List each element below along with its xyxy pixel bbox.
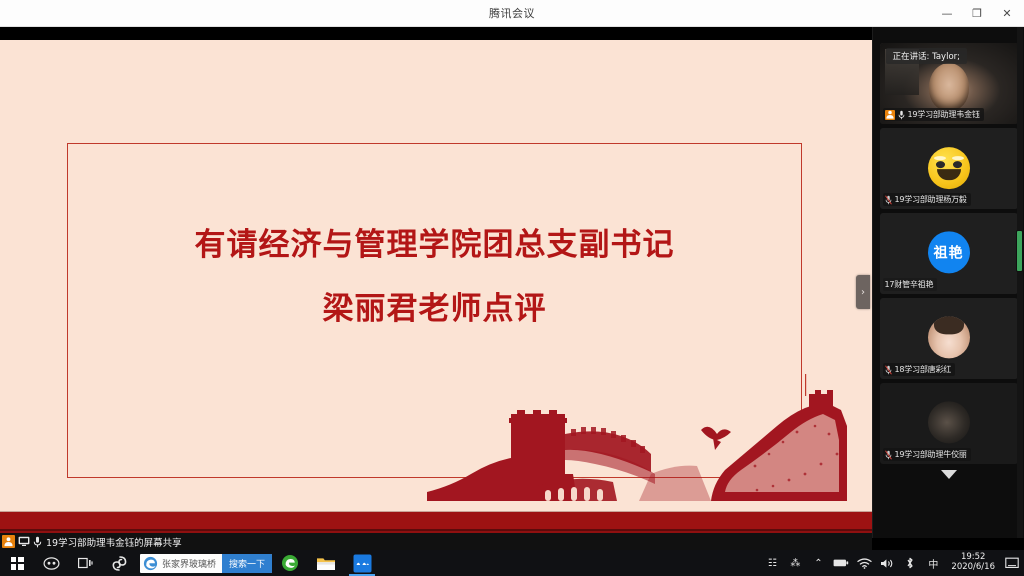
- participant-label: 18学习部唐彩红: [883, 363, 956, 376]
- screen-share-status-bar: 19学习部助理韦金钰的屏幕共享: [0, 533, 872, 550]
- monitor-share-icon: [18, 536, 30, 547]
- participant-label: 19学习部助理牛佼丽: [883, 448, 971, 461]
- sogou-ime-button[interactable]: [102, 550, 136, 576]
- volume-icon[interactable]: [876, 550, 898, 576]
- close-button[interactable]: ✕: [992, 1, 1022, 26]
- initials-avatar: 祖艳: [928, 231, 970, 273]
- collapse-panel-handle[interactable]: ›: [856, 275, 870, 309]
- shared-screen-stage: 有请经济与管理学院团总支副书记 梁丽君老师点评: [0, 27, 872, 538]
- screenshot-tool-icon[interactable]: ☷: [761, 550, 783, 576]
- battery-icon[interactable]: [830, 550, 852, 576]
- edge-search-box[interactable]: 张家界玻璃桥 搜索一下: [140, 554, 272, 573]
- participant-name: 19学习部助理杨万毅: [895, 194, 967, 205]
- cortana-search-icon: [43, 557, 60, 570]
- bluetooth-icon[interactable]: [899, 550, 921, 576]
- panel-scrollbar-track[interactable]: [1017, 27, 1023, 538]
- task-view-icon: [78, 557, 93, 570]
- participant-name: 19学习部助理牛佼丽: [895, 449, 967, 460]
- emoji-eye-right: [953, 161, 962, 168]
- clock-date: 2020/6/16: [951, 563, 995, 573]
- participant-label: 19学习部助理杨万毅: [883, 193, 971, 206]
- browser-360-icon[interactable]: [272, 550, 308, 576]
- participant-label: 19学习部助理韦金钰: [883, 108, 984, 121]
- emoji-mouth: [937, 169, 961, 180]
- slide-heading-line-1: 有请经济与管理学院团总支副书记: [67, 225, 802, 267]
- participant-name: 17财管辛祖艳: [885, 279, 934, 290]
- ime-language-icon[interactable]: 中: [922, 550, 944, 576]
- window-title: 腾讯会议: [489, 5, 535, 21]
- tencent-meeting-taskbar-icon: [353, 554, 372, 573]
- system-tray: ☷ ⁂ ⌃: [761, 550, 1024, 576]
- file-explorer-icon[interactable]: [308, 550, 344, 576]
- wifi-icon[interactable]: [853, 550, 875, 576]
- stage-top-letterbox: [0, 27, 872, 40]
- edge-search-query[interactable]: 张家界玻璃桥: [160, 557, 222, 570]
- task-view-button[interactable]: [68, 550, 102, 576]
- share-network-icon[interactable]: ⁂: [784, 550, 806, 576]
- edge-search-submit-button[interactable]: 搜索一下: [222, 554, 272, 573]
- emoji-eye-left: [936, 161, 945, 168]
- presentation-slide: 有请经济与管理学院团总支副书记 梁丽君老师点评: [0, 40, 872, 511]
- meeting-app-icon[interactable]: [344, 550, 380, 576]
- start-button[interactable]: [0, 550, 34, 576]
- screen-share-status-text: 19学习部助理韦金钰的屏幕共享: [46, 535, 182, 549]
- windows-taskbar: 张家界玻璃桥 搜索一下 ☷: [0, 550, 1024, 576]
- participants-panel: 正在讲话: Taylor; 19学习部助理韦金钰: [872, 27, 1024, 538]
- panel-top-spacer: [873, 27, 1024, 40]
- microphone-muted-icon: [885, 195, 892, 205]
- microphone-icon: [33, 536, 42, 548]
- microphone-icon: [898, 110, 905, 120]
- show-hidden-icons-chevron[interactable]: ⌃: [807, 550, 829, 576]
- tencent-meeting-window: 腾讯会议 — ❐ ✕ 有请经济与管理学院团总支副书记 梁丽君老师点评: [0, 0, 1024, 576]
- panel-scrollbar-thumb[interactable]: [1016, 230, 1023, 272]
- slide-heading-line-2: 梁丽君老师点评: [67, 289, 802, 331]
- participant-tile-2[interactable]: 祖艳 17财管辛祖艳: [880, 213, 1018, 294]
- minimize-button[interactable]: —: [932, 1, 962, 26]
- participant-name: 19学习部助理韦金钰: [908, 109, 980, 120]
- microphone-muted-icon: [885, 365, 892, 375]
- participant-tile-4[interactable]: 19学习部助理牛佼丽: [880, 383, 1018, 464]
- windows-logo-icon: [11, 557, 24, 570]
- emoji-brow-left: [934, 156, 946, 160]
- scroll-down-button[interactable]: [873, 468, 1024, 479]
- folder-icon: [316, 555, 336, 572]
- emoji-brow-right: [952, 156, 964, 160]
- host-badge-icon: [885, 110, 895, 120]
- emoji-avatar: [928, 147, 970, 189]
- chevron-down-icon: [941, 470, 957, 479]
- green-browser-icon: [281, 554, 299, 572]
- title-bar: 腾讯会议 — ❐ ✕: [0, 0, 1024, 27]
- photo-avatar: [928, 316, 970, 358]
- sogou-icon: [111, 556, 128, 571]
- participant-tile-1[interactable]: 19学习部助理杨万毅: [880, 128, 1018, 209]
- sharer-avatar-icon: [2, 535, 15, 548]
- speaking-indicator-banner: 正在讲话: Taylor;: [886, 48, 968, 64]
- taskbar-search-button[interactable]: [34, 550, 68, 576]
- great-wall-illustration: [425, 374, 850, 509]
- photo-avatar: [928, 401, 970, 443]
- participant-label: 17财管辛祖艳: [883, 278, 938, 291]
- window-controls: — ❐ ✕: [932, 0, 1022, 27]
- restore-button[interactable]: ❐: [962, 1, 992, 26]
- participant-tile-3[interactable]: 18学习部唐彩红: [880, 298, 1018, 379]
- slide-bottom-red-band: [0, 511, 872, 531]
- taskbar-clock[interactable]: 19:52 2020/6/16: [945, 550, 1001, 576]
- participant-tile-0[interactable]: 正在讲话: Taylor; 19学习部助理韦金钰: [880, 43, 1018, 124]
- microphone-muted-icon: [885, 450, 892, 460]
- edge-browser-icon: [140, 554, 160, 573]
- participant-name: 18学习部唐彩红: [895, 364, 952, 375]
- action-center-icon[interactable]: [1002, 550, 1022, 576]
- slide-text-block: 有请经济与管理学院团总支副书记 梁丽君老师点评: [67, 225, 802, 331]
